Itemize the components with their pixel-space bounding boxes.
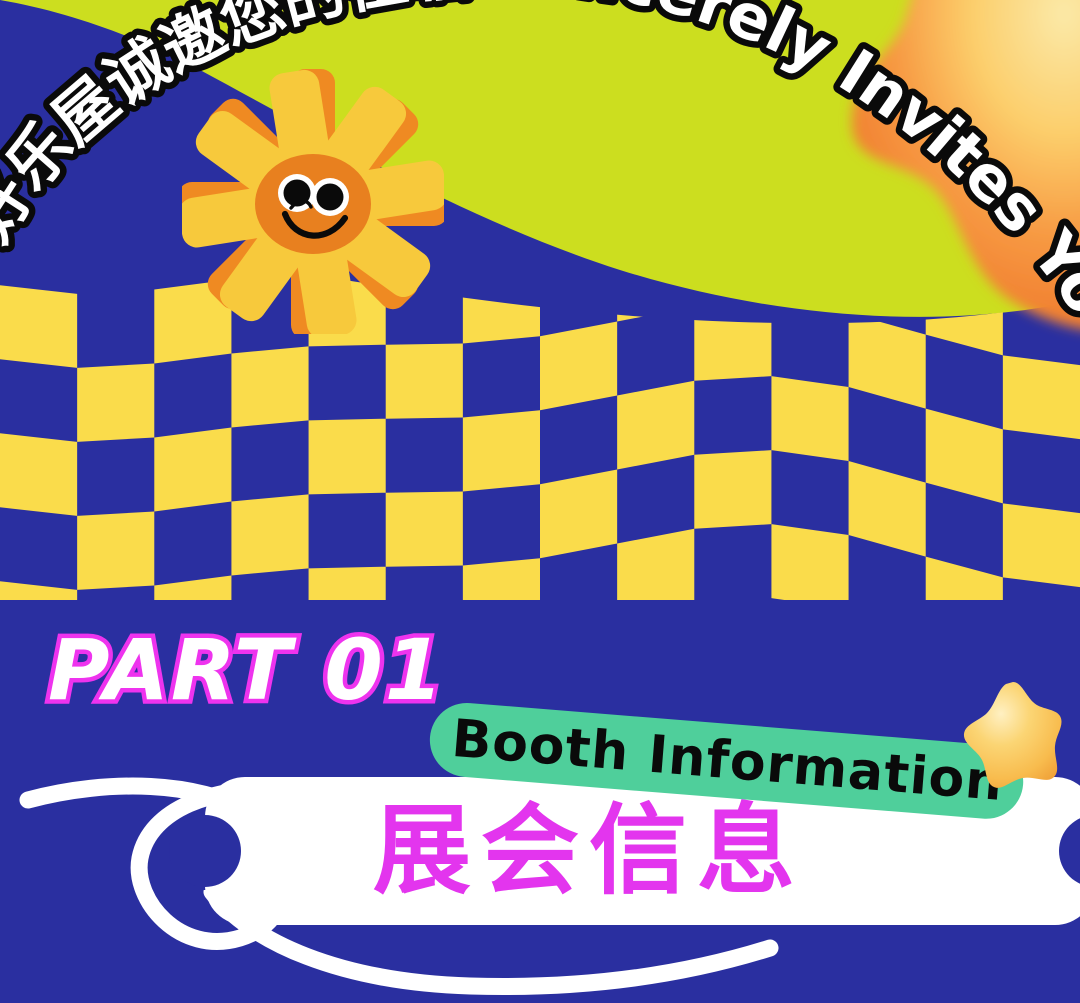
- puffy-star-icon: [955, 676, 1070, 794]
- sun-mascot-icon: [182, 52, 444, 334]
- checker-cell: [771, 524, 848, 609]
- checker-cell: [77, 511, 154, 589]
- checker-cell: [386, 492, 463, 567]
- checker-cell: [540, 322, 617, 411]
- card-notch-right: [1059, 815, 1080, 887]
- checker-cell: [1003, 503, 1080, 587]
- checker-cell: [0, 433, 77, 516]
- checker-cell: [386, 344, 463, 419]
- checker-cell: [309, 419, 386, 495]
- checker-cell: [617, 381, 694, 470]
- card-notch-left: [169, 815, 241, 887]
- poster-canvas: 好乐屋诚邀您的莅临 Sincerely Invites You Visit 好乐…: [0, 0, 1080, 1003]
- checker-cell: [77, 363, 154, 441]
- checker-cell: [1003, 355, 1080, 439]
- checker-cell: [463, 410, 540, 491]
- checker-cell: [231, 494, 308, 575]
- checker-cell: [154, 427, 231, 511]
- checker-cell: [771, 376, 848, 461]
- checker-cell: [694, 450, 771, 529]
- checker-cell: [540, 470, 617, 559]
- exhibition-info-title: 展会信息: [373, 802, 805, 900]
- checker-cell: [0, 285, 77, 368]
- part-label: PART 01: [48, 628, 445, 712]
- checker-cell: [231, 346, 308, 427]
